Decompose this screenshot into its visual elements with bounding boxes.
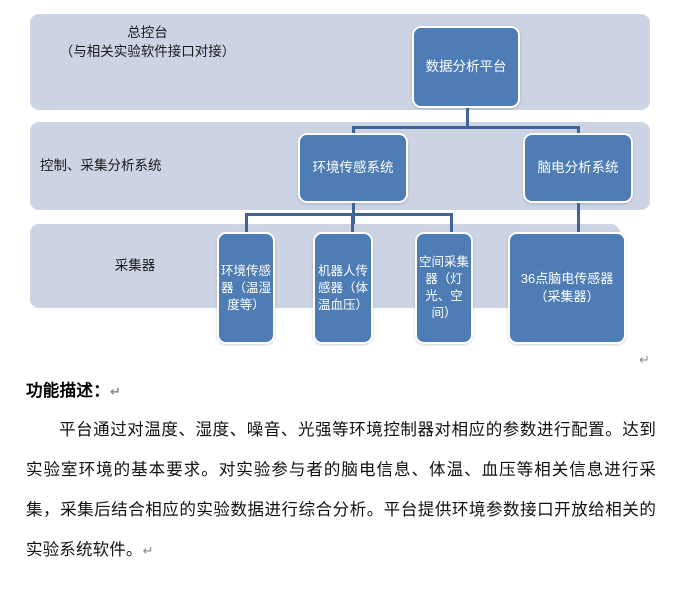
- paragraph-mark-icon: ↵: [143, 543, 154, 558]
- function-description-heading-text: 功能描述：: [26, 381, 110, 400]
- connector-to-env-sensor: [245, 213, 248, 234]
- connector-to-space-collector: [450, 213, 453, 234]
- function-description-section: ↵ 功能描述：↵ 平台通过对温度、湿度、噪音、光强等环境控制器对相应的参数进行配…: [0, 360, 679, 589]
- function-description-body: 平台通过对温度、湿度、噪音、光强等环境控制器对相应的参数进行配置。达到实验室环境…: [26, 410, 656, 571]
- node-space-collector[interactable]: 空间采集器（灯光、空间）: [415, 232, 473, 344]
- node-data-analysis-platform[interactable]: 数据分析平台: [412, 26, 520, 108]
- node-environment-sensor-label: 环境传感器（温湿度等）: [219, 263, 273, 314]
- architecture-diagram: 总控台 （与相关实验软件接口对接） 控制、采集分析系统 采集器 数据分析平台 环…: [0, 0, 679, 360]
- node-environment-sensor[interactable]: 环境传感器（温湿度等）: [217, 232, 275, 344]
- node-space-collector-label: 空间采集器（灯光、空间）: [417, 254, 471, 322]
- node-data-analysis-platform-label: 数据分析平台: [424, 58, 509, 76]
- band-control-system-label: 控制、采集分析系统: [40, 156, 255, 175]
- node-eeg-analysis-system[interactable]: 脑电分析系统: [523, 133, 633, 203]
- node-eeg-analysis-system-label: 脑电分析系统: [536, 159, 621, 177]
- connector-level1-horizontal: [352, 126, 580, 129]
- paragraph-mark-icon: ↵: [110, 384, 121, 399]
- connector-eeg-system-down: [577, 202, 580, 234]
- function-description-body-text: 平台通过对温度、湿度、噪音、光强等环境控制器对相应的参数进行配置。达到实验室环境…: [26, 420, 656, 559]
- node-eeg-sensor-36ch[interactable]: 36点脑电传感器（采集器）: [508, 232, 626, 344]
- node-robot-sensor-label: 机器人传感器（体温血压）: [315, 263, 371, 314]
- band-collectors-label: 采集器: [40, 256, 230, 275]
- band-console-label: 总控台 （与相关实验软件接口对接）: [40, 23, 255, 61]
- node-robot-sensor[interactable]: 机器人传感器（体温血压）: [313, 232, 373, 344]
- node-environment-sensing-system-label: 环境传感系统: [311, 159, 396, 177]
- node-eeg-sensor-36ch-label: 36点脑电传感器（采集器）: [510, 270, 624, 306]
- connector-platform-down: [466, 106, 469, 128]
- node-environment-sensing-system[interactable]: 环境传感系统: [298, 133, 408, 203]
- paragraph-mark-icon: ↵: [639, 352, 650, 368]
- connector-to-robot-sensor: [351, 213, 354, 234]
- function-description-heading: 功能描述：↵: [26, 377, 121, 401]
- connector-level2-horizontal: [245, 213, 453, 216]
